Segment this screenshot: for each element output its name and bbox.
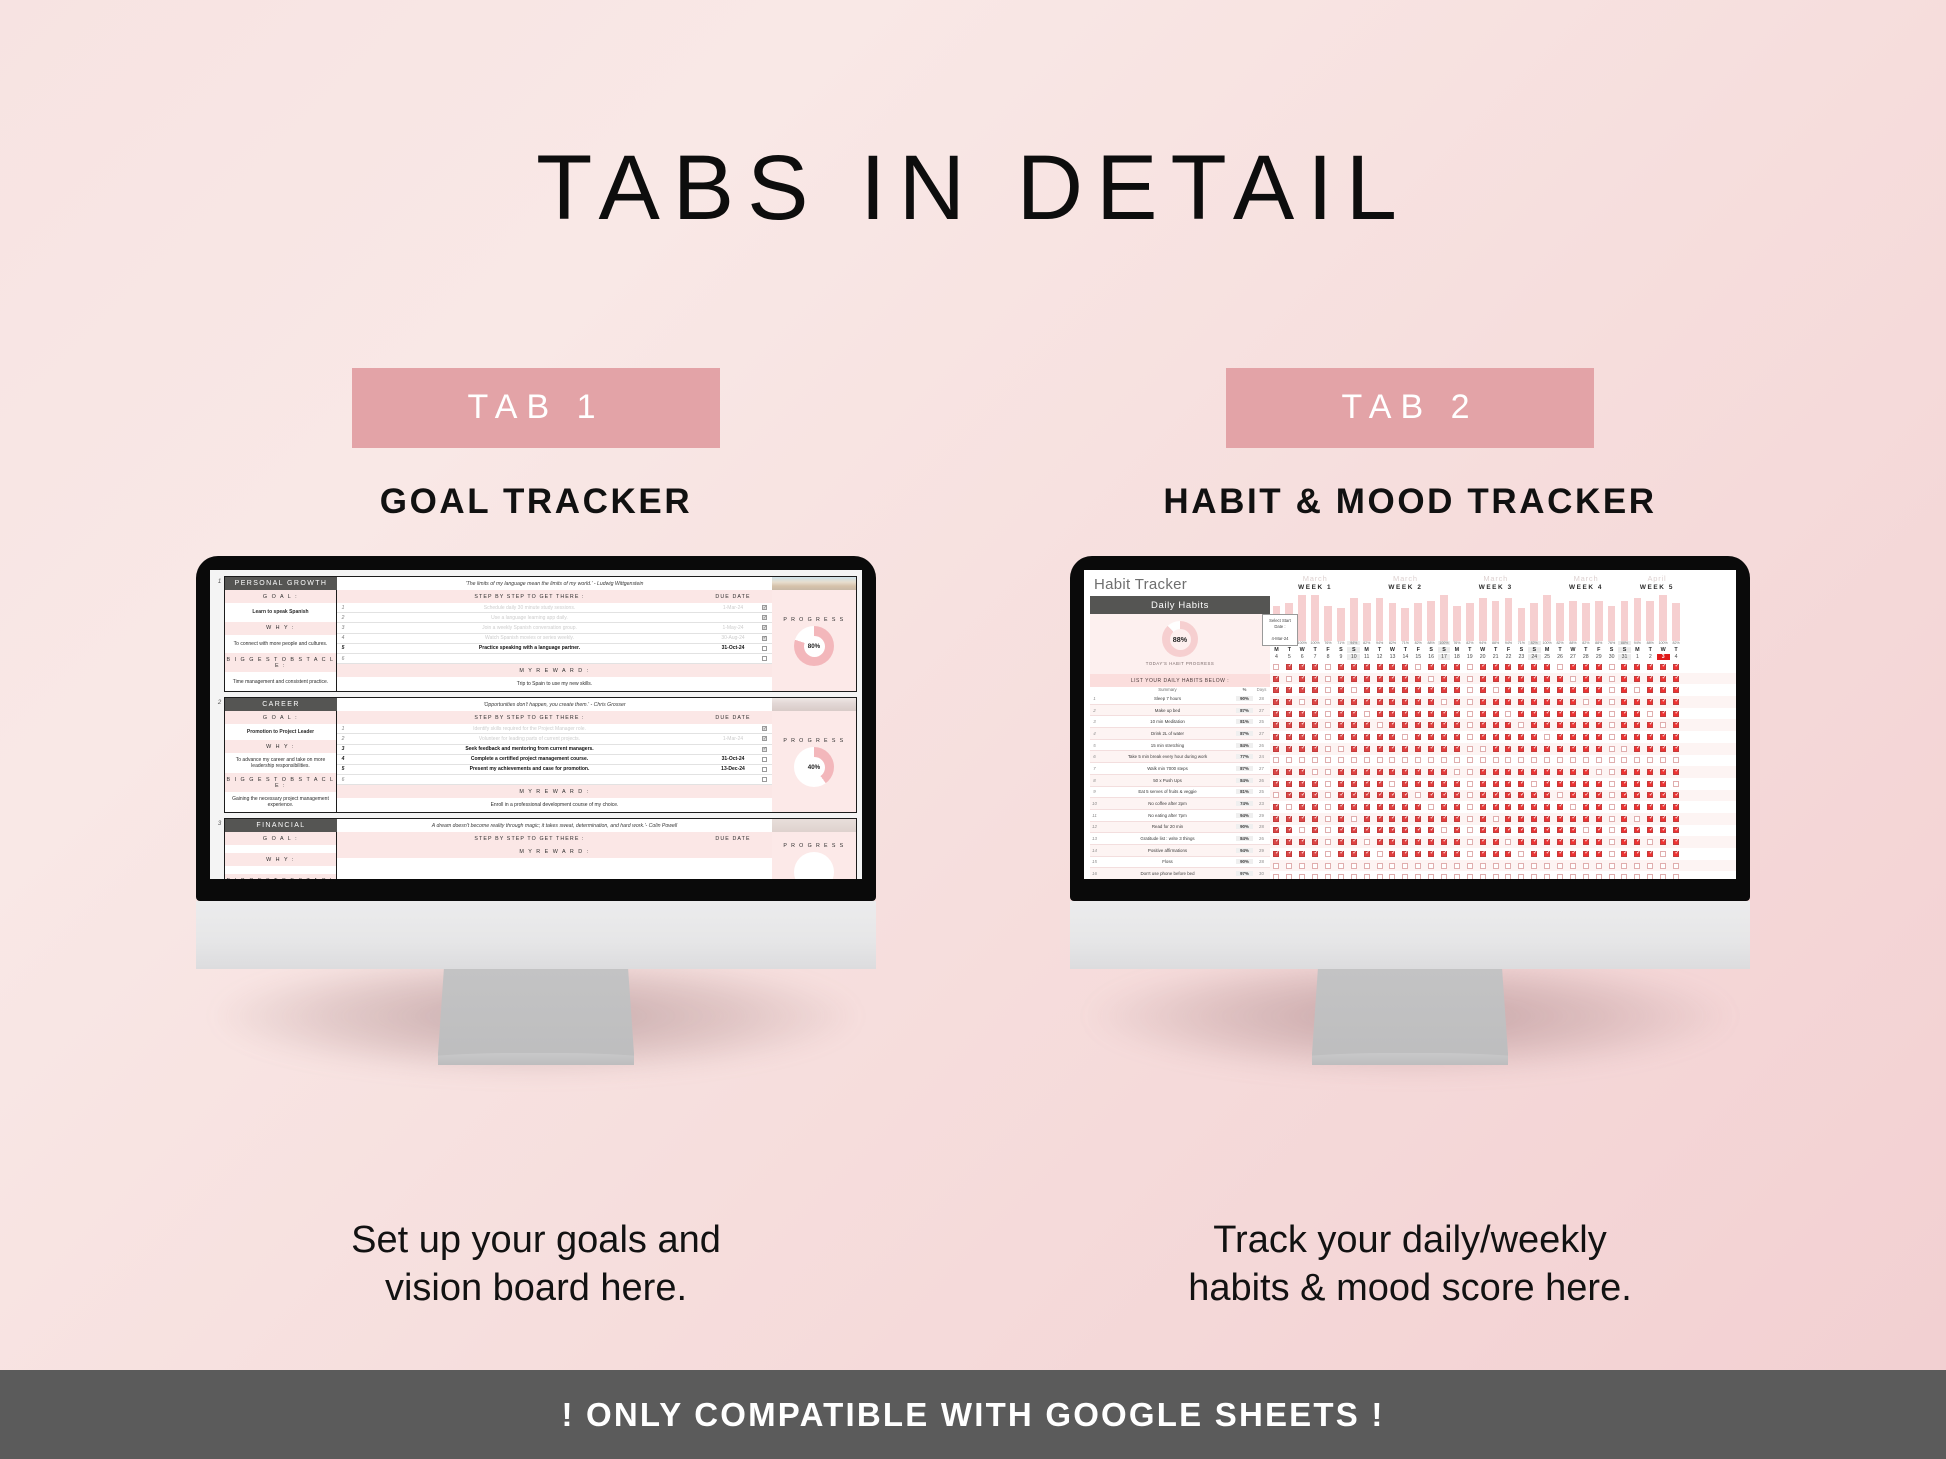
habit-cell[interactable] (1528, 848, 1541, 860)
habit-cell[interactable] (1605, 708, 1618, 720)
habit-cell[interactable] (1386, 836, 1399, 848)
day-date[interactable]: 6 (1296, 654, 1309, 660)
habit-cell[interactable] (1322, 696, 1335, 708)
day-date[interactable]: 11 (1360, 654, 1373, 660)
day-date[interactable]: 31 (1618, 654, 1631, 660)
habit-cell[interactable] (1541, 731, 1554, 743)
goal-step-row[interactable]: 5Present my achievements and case for pr… (337, 765, 772, 775)
habit-cell[interactable] (1322, 743, 1335, 755)
habit-cell[interactable] (1412, 860, 1425, 872)
habit-cell[interactable] (1412, 708, 1425, 720)
habit-cell[interactable] (1347, 860, 1360, 872)
habit-cell[interactable] (1528, 684, 1541, 696)
habit-cell[interactable] (1618, 790, 1631, 802)
habit-cell[interactable] (1489, 743, 1502, 755)
habit-cell[interactable] (1618, 684, 1631, 696)
habit-cell[interactable] (1502, 766, 1515, 778)
habit-cell[interactable] (1399, 778, 1412, 790)
day-date[interactable]: 18 (1450, 654, 1463, 660)
habit-cell[interactable] (1476, 661, 1489, 673)
habit-cell[interactable] (1644, 790, 1657, 802)
habit-cell[interactable] (1296, 766, 1309, 778)
habit-cell[interactable] (1657, 801, 1670, 813)
habit-cell[interactable] (1347, 684, 1360, 696)
habit-cell[interactable] (1296, 755, 1309, 767)
habit-cell[interactable] (1296, 696, 1309, 708)
why-value[interactable] (225, 866, 336, 874)
habit-name[interactable]: Sleep 7 hours (1099, 696, 1236, 701)
habit-cell[interactable] (1631, 871, 1644, 879)
habit-cell[interactable] (1489, 673, 1502, 685)
goal-step-row[interactable]: 1Identify skills required for the Projec… (337, 724, 772, 734)
habit-cell[interactable] (1476, 813, 1489, 825)
habit-cell[interactable] (1373, 719, 1386, 731)
habit-cell[interactable] (1579, 778, 1592, 790)
habit-cell[interactable] (1296, 661, 1309, 673)
habit-cell[interactable] (1283, 719, 1296, 731)
habit-cell[interactable] (1528, 708, 1541, 720)
habit-row[interactable]: 4Drink 2L of water87%27 (1090, 728, 1270, 740)
habit-cell[interactable] (1605, 825, 1618, 837)
habit-cell[interactable] (1334, 673, 1347, 685)
habit-cell[interactable] (1541, 860, 1554, 872)
step-checkbox[interactable] (756, 634, 772, 643)
habit-cell[interactable] (1631, 731, 1644, 743)
habit-cell[interactable] (1296, 790, 1309, 802)
habit-cell[interactable] (1399, 801, 1412, 813)
habit-cell[interactable] (1644, 778, 1657, 790)
habit-cell[interactable] (1631, 848, 1644, 860)
habit-cell[interactable] (1450, 778, 1463, 790)
habit-cell[interactable] (1322, 673, 1335, 685)
habit-cell[interactable] (1373, 801, 1386, 813)
day-date[interactable]: 23 (1515, 654, 1528, 660)
step-checkbox[interactable] (756, 734, 772, 743)
habit-cell[interactable] (1373, 871, 1386, 879)
habit-cell[interactable] (1579, 661, 1592, 673)
habit-cell[interactable] (1296, 731, 1309, 743)
habit-cell[interactable] (1360, 661, 1373, 673)
habit-cell[interactable] (1386, 708, 1399, 720)
day-date[interactable]: 16 (1425, 654, 1438, 660)
habit-cell[interactable] (1670, 813, 1683, 825)
habit-cell[interactable] (1270, 661, 1283, 673)
habit-cell[interactable] (1360, 871, 1373, 879)
habit-cell[interactable] (1592, 766, 1605, 778)
habit-cell[interactable] (1644, 871, 1657, 879)
habit-cell[interactable] (1528, 813, 1541, 825)
habit-cell[interactable] (1425, 848, 1438, 860)
habit-cell[interactable] (1322, 778, 1335, 790)
habit-cell[interactable] (1283, 684, 1296, 696)
habit-cell[interactable] (1541, 696, 1554, 708)
habit-cell[interactable] (1438, 696, 1451, 708)
habit-cell[interactable] (1554, 766, 1567, 778)
habit-cell[interactable] (1476, 731, 1489, 743)
habit-cell[interactable] (1450, 848, 1463, 860)
habit-name[interactable]: Make up bed (1099, 708, 1236, 713)
habit-cell[interactable] (1283, 696, 1296, 708)
habit-cell[interactable] (1605, 860, 1618, 872)
habit-cell[interactable] (1425, 778, 1438, 790)
tab-badge-2[interactable]: TAB 2 (1226, 368, 1594, 448)
day-date[interactable]: 14 (1399, 654, 1412, 660)
habit-cell[interactable] (1541, 836, 1554, 848)
habit-cell[interactable] (1670, 696, 1683, 708)
habit-cell[interactable] (1541, 825, 1554, 837)
habit-cell[interactable] (1554, 673, 1567, 685)
habit-cell[interactable] (1592, 836, 1605, 848)
day-date[interactable]: 22 (1502, 654, 1515, 660)
habit-cell[interactable] (1386, 696, 1399, 708)
habit-cell[interactable] (1347, 696, 1360, 708)
habit-cell[interactable] (1322, 825, 1335, 837)
goal-step-row[interactable]: 5Practice speaking with a language partn… (337, 644, 772, 654)
habit-cell[interactable] (1644, 673, 1657, 685)
habit-cell[interactable] (1541, 684, 1554, 696)
habit-cell[interactable] (1438, 836, 1451, 848)
day-date[interactable]: 30 (1605, 654, 1618, 660)
habit-cell[interactable] (1515, 825, 1528, 837)
habit-cell[interactable] (1283, 673, 1296, 685)
habit-cell[interactable] (1334, 766, 1347, 778)
habit-cell[interactable] (1322, 801, 1335, 813)
day-date[interactable]: 1 (1631, 654, 1644, 660)
habit-cell[interactable] (1347, 755, 1360, 767)
habit-cell[interactable] (1644, 860, 1657, 872)
habit-cell[interactable] (1476, 766, 1489, 778)
step-checkbox[interactable] (756, 724, 772, 733)
habit-cell[interactable] (1450, 731, 1463, 743)
habit-cell[interactable] (1309, 860, 1322, 872)
step-checkbox[interactable] (756, 745, 772, 754)
day-date[interactable]: 9 (1334, 654, 1347, 660)
habit-cell[interactable] (1296, 673, 1309, 685)
habit-cell[interactable] (1605, 871, 1618, 879)
habit-cell[interactable] (1412, 825, 1425, 837)
habit-cell[interactable] (1644, 708, 1657, 720)
habit-cell[interactable] (1438, 790, 1451, 802)
habit-row[interactable]: 9Eat 5 serves of fruits & veggie81%25 (1090, 787, 1270, 799)
habit-cell[interactable] (1412, 719, 1425, 731)
habit-cell[interactable] (1528, 801, 1541, 813)
habit-cell[interactable] (1631, 836, 1644, 848)
habit-cell[interactable] (1515, 743, 1528, 755)
habit-cell[interactable] (1309, 684, 1322, 696)
habit-row[interactable]: 1Sleep 7 hours90%28 (1090, 693, 1270, 705)
habit-cell[interactable] (1476, 719, 1489, 731)
habit-cell[interactable] (1670, 836, 1683, 848)
habit-name[interactable]: Walk min 7000 steps (1099, 766, 1236, 771)
habit-cell[interactable] (1631, 708, 1644, 720)
habit-cell[interactable] (1322, 813, 1335, 825)
habit-cell[interactable] (1412, 731, 1425, 743)
habit-cell[interactable] (1502, 743, 1515, 755)
habit-cell[interactable] (1670, 778, 1683, 790)
habit-cell[interactable] (1631, 778, 1644, 790)
habit-cell[interactable] (1579, 684, 1592, 696)
habit-cell[interactable] (1270, 825, 1283, 837)
habit-cell[interactable] (1360, 778, 1373, 790)
habit-cell[interactable] (1296, 719, 1309, 731)
habit-cell[interactable] (1528, 778, 1541, 790)
habit-cell[interactable] (1399, 825, 1412, 837)
habit-cell[interactable] (1373, 825, 1386, 837)
habit-cell[interactable] (1644, 766, 1657, 778)
habit-cell[interactable] (1270, 766, 1283, 778)
habit-cell[interactable] (1489, 766, 1502, 778)
habit-cell[interactable] (1528, 871, 1541, 879)
habit-cell[interactable] (1438, 661, 1451, 673)
habit-cell[interactable] (1605, 719, 1618, 731)
habit-cell[interactable] (1296, 871, 1309, 879)
habit-cell[interactable] (1360, 719, 1373, 731)
habit-cell[interactable] (1347, 801, 1360, 813)
habit-cell[interactable] (1334, 719, 1347, 731)
habit-cell[interactable] (1554, 801, 1567, 813)
habit-cell[interactable] (1670, 871, 1683, 879)
habit-cell[interactable] (1283, 825, 1296, 837)
habit-cell[interactable] (1450, 790, 1463, 802)
step-checkbox[interactable] (756, 603, 772, 612)
habit-cell[interactable] (1515, 755, 1528, 767)
goal-step-row[interactable]: 4Complete a certified project management… (337, 755, 772, 765)
habit-cell[interactable] (1399, 708, 1412, 720)
habit-cell[interactable] (1463, 766, 1476, 778)
habit-cell[interactable] (1373, 673, 1386, 685)
habit-cell[interactable] (1644, 825, 1657, 837)
habit-cell[interactable] (1476, 673, 1489, 685)
habit-cell[interactable] (1463, 719, 1476, 731)
habit-cell[interactable] (1399, 860, 1412, 872)
habit-cell[interactable] (1309, 696, 1322, 708)
habit-row[interactable]: 12Read for 20 min90%28 (1090, 822, 1270, 834)
habit-cell[interactable] (1579, 801, 1592, 813)
habit-row[interactable]: 14Positive affirmations94%29 (1090, 845, 1270, 857)
step-checkbox[interactable] (756, 654, 772, 663)
habit-cell[interactable] (1541, 766, 1554, 778)
habit-cell[interactable] (1270, 743, 1283, 755)
habit-cell[interactable] (1541, 661, 1554, 673)
habit-row[interactable]: 10No coffee after 2pm74%23 (1090, 798, 1270, 810)
habit-cell[interactable] (1347, 871, 1360, 879)
habit-cell[interactable] (1489, 778, 1502, 790)
habit-cell[interactable] (1438, 755, 1451, 767)
habit-cell[interactable] (1425, 790, 1438, 802)
habit-cell[interactable] (1412, 790, 1425, 802)
habit-cell[interactable] (1528, 743, 1541, 755)
habit-cell[interactable] (1373, 743, 1386, 755)
habit-cell[interactable] (1463, 813, 1476, 825)
start-date-picker[interactable]: Select Start Date :4-Mar-24 (1262, 614, 1298, 646)
day-date[interactable]: 26 (1554, 654, 1567, 660)
day-date[interactable]: 8 (1322, 654, 1335, 660)
habit-cell[interactable] (1425, 708, 1438, 720)
habit-cell[interactable] (1618, 755, 1631, 767)
habit-name[interactable]: Gratitude list : write 3 things (1099, 836, 1236, 841)
habit-cell[interactable] (1425, 661, 1438, 673)
habit-cell[interactable] (1476, 836, 1489, 848)
habit-cell[interactable] (1399, 848, 1412, 860)
habit-cell[interactable] (1566, 871, 1579, 879)
habit-cell[interactable] (1425, 766, 1438, 778)
start-date-value[interactable]: 4-Mar-24 (1265, 636, 1295, 642)
habit-cell[interactable] (1670, 766, 1683, 778)
habit-cell[interactable] (1644, 661, 1657, 673)
habit-cell[interactable] (1554, 731, 1567, 743)
habit-cell[interactable] (1528, 790, 1541, 802)
habit-cell[interactable] (1347, 825, 1360, 837)
habit-cell[interactable] (1450, 743, 1463, 755)
habit-cell[interactable] (1270, 836, 1283, 848)
habit-cell[interactable] (1515, 848, 1528, 860)
habit-cell[interactable] (1657, 813, 1670, 825)
habit-cell[interactable] (1334, 696, 1347, 708)
habit-cell[interactable] (1412, 696, 1425, 708)
habit-cell[interactable] (1283, 661, 1296, 673)
day-date[interactable]: 2 (1644, 654, 1657, 660)
habit-cell[interactable] (1631, 813, 1644, 825)
habit-cell[interactable] (1631, 696, 1644, 708)
goal-step-row[interactable]: 2Use a language learning app daily. (337, 613, 772, 623)
habit-cell[interactable] (1373, 790, 1386, 802)
habit-cell[interactable] (1515, 860, 1528, 872)
habit-cell[interactable] (1502, 801, 1515, 813)
habit-cell[interactable] (1579, 766, 1592, 778)
habit-cell[interactable] (1566, 766, 1579, 778)
habit-cell[interactable] (1515, 661, 1528, 673)
habit-cell[interactable] (1644, 719, 1657, 731)
day-date[interactable]: 24 (1528, 654, 1541, 660)
habit-cell[interactable] (1399, 743, 1412, 755)
habit-cell[interactable] (1322, 731, 1335, 743)
habit-cell[interactable] (1528, 825, 1541, 837)
habit-row[interactable]: 310 min Meditation81%25 (1090, 716, 1270, 728)
day-date[interactable]: 17 (1438, 654, 1451, 660)
habit-cell[interactable] (1566, 661, 1579, 673)
habit-name[interactable]: Take 5 min break every hour during work (1099, 754, 1236, 759)
habit-cell[interactable] (1450, 684, 1463, 696)
day-date[interactable]: 4 (1670, 654, 1683, 660)
habit-cell[interactable] (1592, 801, 1605, 813)
habit-cell[interactable] (1399, 684, 1412, 696)
habit-cell[interactable] (1502, 860, 1515, 872)
habit-cell[interactable] (1554, 825, 1567, 837)
habit-cell[interactable] (1657, 871, 1670, 879)
habit-cell[interactable] (1386, 825, 1399, 837)
habit-cell[interactable] (1360, 731, 1373, 743)
habit-cell[interactable] (1579, 860, 1592, 872)
habit-cell[interactable] (1283, 778, 1296, 790)
habit-cell[interactable] (1670, 673, 1683, 685)
habit-cell[interactable] (1592, 708, 1605, 720)
habit-cell[interactable] (1283, 813, 1296, 825)
habit-cell[interactable] (1502, 684, 1515, 696)
habit-cell[interactable] (1438, 731, 1451, 743)
goal-tracker-sheet[interactable]: 1PERSONAL GROWTH'The limits of my langua… (210, 570, 862, 879)
habit-cell[interactable] (1412, 836, 1425, 848)
habit-cell[interactable] (1322, 755, 1335, 767)
habit-cell[interactable] (1579, 696, 1592, 708)
habit-cell[interactable] (1670, 825, 1683, 837)
habit-cell[interactable] (1618, 778, 1631, 790)
habit-cell[interactable] (1296, 836, 1309, 848)
habit-cell[interactable] (1373, 836, 1386, 848)
habit-cell[interactable] (1386, 813, 1399, 825)
habit-cell[interactable] (1412, 766, 1425, 778)
habit-cell[interactable] (1618, 696, 1631, 708)
habit-cell[interactable] (1592, 719, 1605, 731)
habit-cell[interactable] (1463, 871, 1476, 879)
habit-cell[interactable] (1399, 719, 1412, 731)
habit-cell[interactable] (1360, 673, 1373, 685)
habit-cell[interactable] (1515, 836, 1528, 848)
habit-cell[interactable] (1657, 661, 1670, 673)
habit-cell[interactable] (1334, 790, 1347, 802)
habit-cell[interactable] (1270, 778, 1283, 790)
habit-cell[interactable] (1566, 708, 1579, 720)
habit-cell[interactable] (1334, 708, 1347, 720)
habit-cell[interactable] (1386, 778, 1399, 790)
habit-cell[interactable] (1450, 766, 1463, 778)
habit-cell[interactable] (1489, 696, 1502, 708)
habit-cell[interactable] (1438, 708, 1451, 720)
habit-cell[interactable] (1566, 848, 1579, 860)
habit-cell[interactable] (1566, 696, 1579, 708)
habit-cell[interactable] (1554, 743, 1567, 755)
habit-cell[interactable] (1425, 673, 1438, 685)
habit-cell[interactable] (1296, 813, 1309, 825)
habit-cell[interactable] (1347, 743, 1360, 755)
habit-cell[interactable] (1476, 778, 1489, 790)
habit-cell[interactable] (1502, 696, 1515, 708)
habit-cell[interactable] (1309, 743, 1322, 755)
habit-cell[interactable] (1322, 848, 1335, 860)
habit-cell[interactable] (1476, 801, 1489, 813)
habit-cell[interactable] (1528, 719, 1541, 731)
habit-cell[interactable] (1360, 848, 1373, 860)
habit-cell[interactable] (1618, 661, 1631, 673)
habit-cell[interactable] (1566, 743, 1579, 755)
habit-cell[interactable] (1541, 719, 1554, 731)
habit-cell[interactable] (1270, 731, 1283, 743)
goal-step-row[interactable]: 6 (337, 654, 772, 664)
habit-cell[interactable] (1463, 743, 1476, 755)
habit-cell[interactable] (1579, 871, 1592, 879)
habit-cell[interactable] (1605, 684, 1618, 696)
habit-cell[interactable] (1412, 755, 1425, 767)
reward-value[interactable] (337, 858, 772, 879)
habit-cell[interactable] (1618, 860, 1631, 872)
habit-cell[interactable] (1309, 813, 1322, 825)
habit-cell[interactable] (1618, 673, 1631, 685)
habit-cell[interactable] (1502, 836, 1515, 848)
habit-cell[interactable] (1373, 813, 1386, 825)
habit-cell[interactable] (1618, 708, 1631, 720)
habit-cell[interactable] (1502, 848, 1515, 860)
habit-cell[interactable] (1322, 661, 1335, 673)
habit-cell[interactable] (1631, 719, 1644, 731)
habit-cell[interactable] (1528, 766, 1541, 778)
habit-cell[interactable] (1386, 766, 1399, 778)
habit-cell[interactable] (1657, 684, 1670, 696)
habit-cell[interactable] (1373, 684, 1386, 696)
habit-cell[interactable] (1334, 743, 1347, 755)
habit-row[interactable]: 11No eating after 7pm94%29 (1090, 810, 1270, 822)
habit-cell[interactable] (1489, 661, 1502, 673)
habit-cell[interactable] (1283, 871, 1296, 879)
habit-cell[interactable] (1334, 778, 1347, 790)
